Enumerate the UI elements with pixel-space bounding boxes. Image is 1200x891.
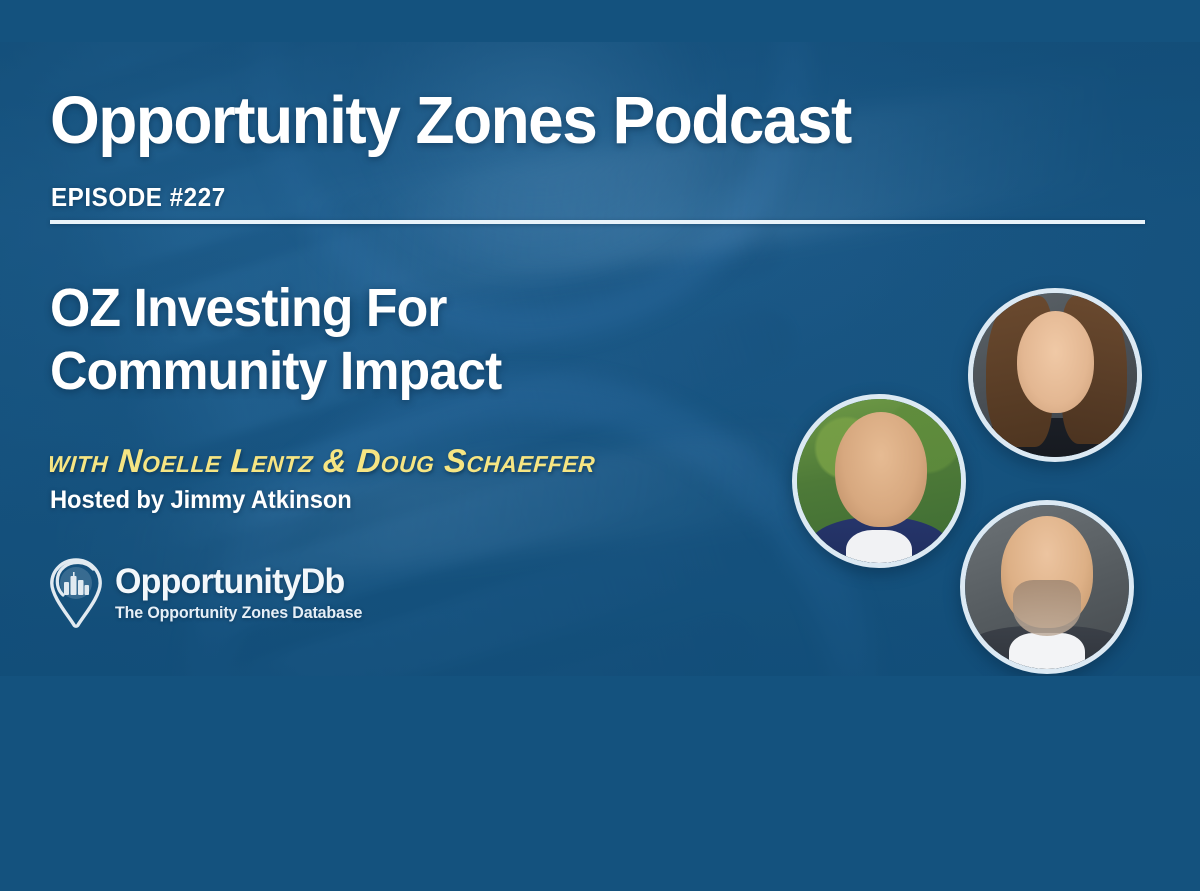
guest-headshot-man: [960, 500, 1134, 674]
title-divider: [50, 220, 1145, 224]
guest-headshot-woman: [968, 288, 1142, 462]
bottom-band: [0, 676, 1200, 891]
cover-artwork: Opportunity Zones Podcast EPISODE #227 O…: [0, 42, 1200, 676]
page-title: Opportunity Zones Podcast: [50, 82, 851, 159]
guests-label: with Noelle Lentz & Doug Schaeffer: [47, 442, 597, 480]
brand-tagline: The Opportunity Zones Database: [115, 605, 362, 622]
episode-number-label: EPISODE #227: [51, 182, 226, 213]
avatar: [973, 293, 1137, 457]
episode-title: OZ Investing For Community Impact: [50, 277, 501, 403]
episode-title-line-2: Community Impact: [50, 340, 501, 403]
host-label: Hosted by Jimmy Atkinson: [50, 486, 352, 515]
episode-title-line-1: OZ Investing For: [50, 277, 501, 340]
brand-logo: OpportunityDb The Opportunity Zones Data…: [46, 557, 370, 629]
host-headshot: [792, 394, 966, 568]
podcast-cover-image: Opportunity Zones Podcast EPISODE #227 O…: [0, 0, 1200, 891]
avatar: [965, 505, 1129, 669]
map-pin-city-icon: [46, 557, 106, 629]
brand-name: OpportunityDb: [115, 564, 362, 599]
avatar: [797, 399, 961, 563]
